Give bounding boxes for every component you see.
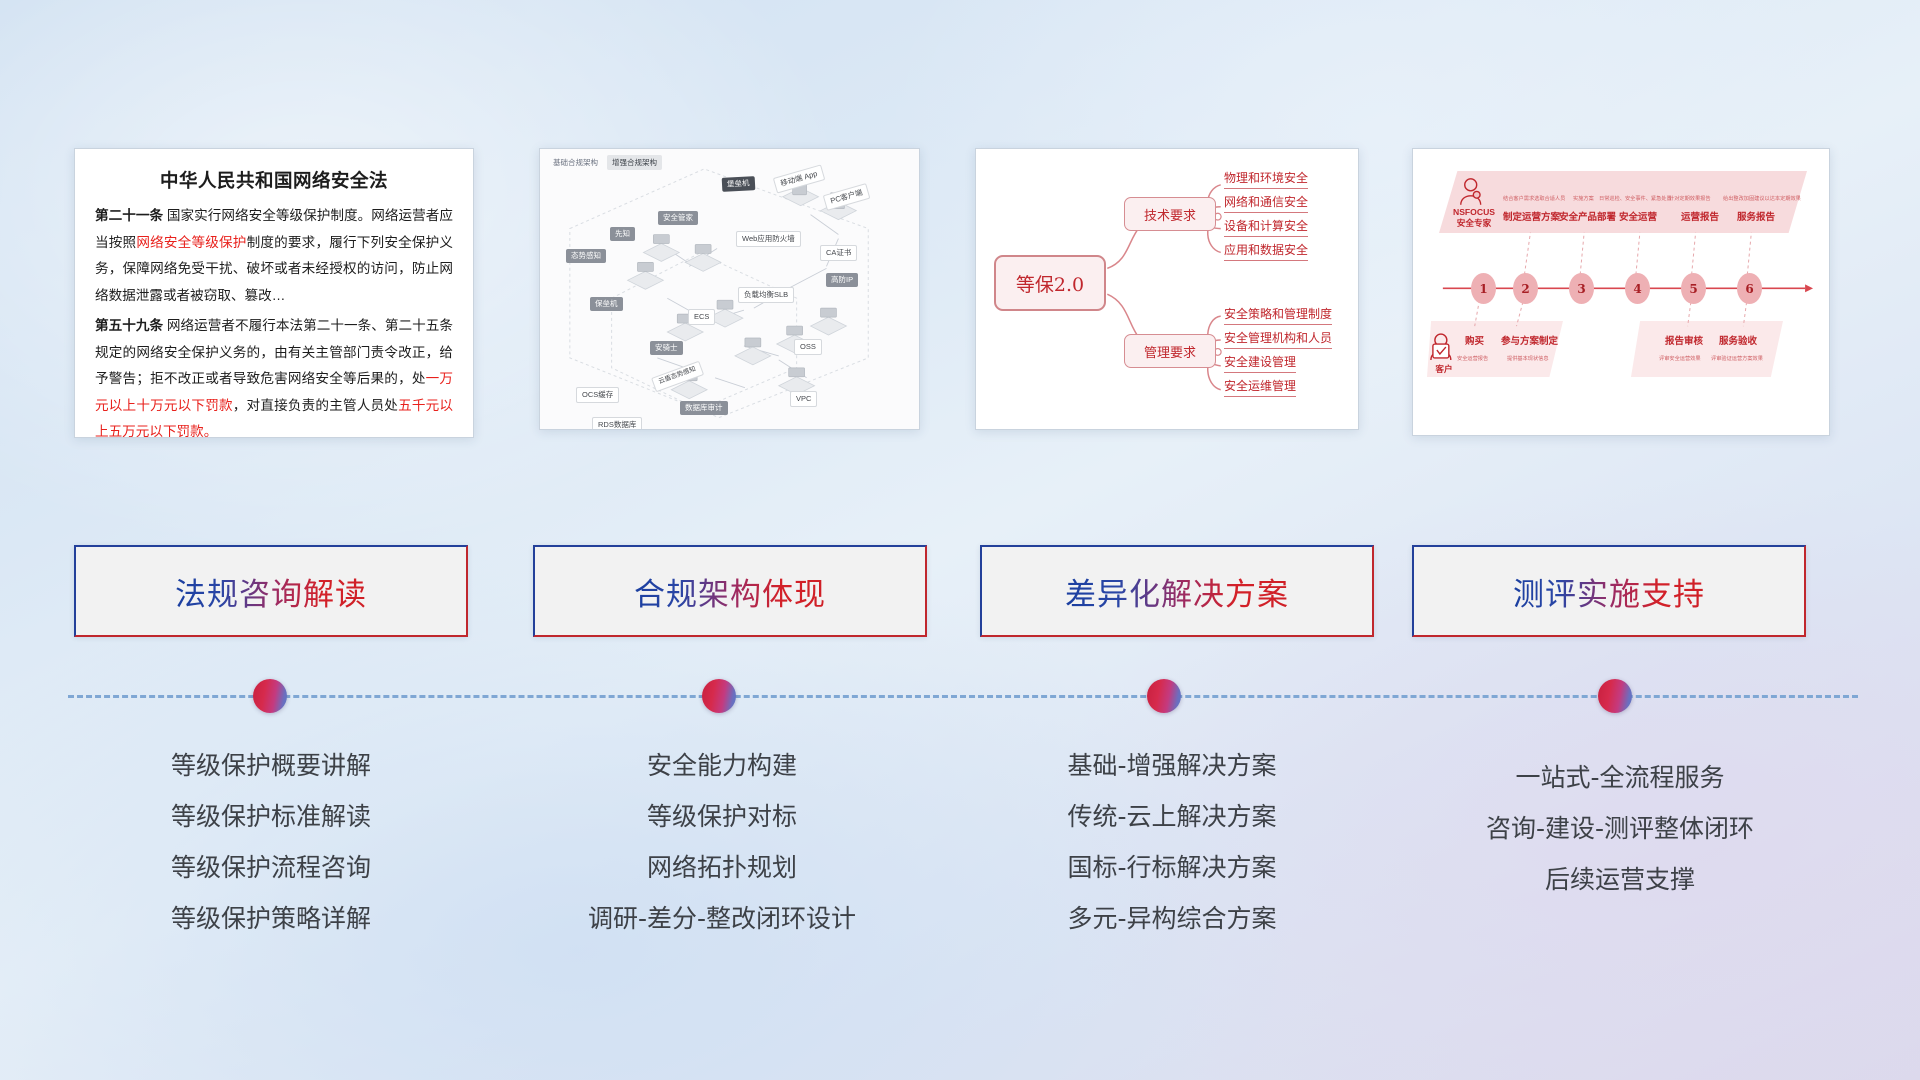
mindmap-root-node[interactable]: 等保2.0 xyxy=(994,255,1106,311)
section-title-box-1[interactable]: 法规咨询解读 xyxy=(74,545,468,637)
node-anti-ddos-ip[interactable]: 高防IP xyxy=(826,273,858,287)
list-item: 多元-异构综合方案 xyxy=(942,893,1402,944)
node-web-application-firewall[interactable]: Web应用防火墙 xyxy=(736,231,801,247)
top-step-1-sub: 结合客户需求选取合适人员 xyxy=(1503,195,1565,202)
list-item: 网络拓扑规划 xyxy=(492,842,952,893)
mindmap-leaf-security-construction-mgmt[interactable]: 安全建设管理 xyxy=(1224,353,1296,373)
list-item: 等级保护对标 xyxy=(492,791,952,842)
article-59-text-b: ，对直接负责的主管人员处 xyxy=(233,398,398,413)
law-card-title: 中华人民共和国网络安全法 xyxy=(95,167,453,193)
timeline-node-4[interactable] xyxy=(1598,679,1632,713)
bottom-step-4-sub: 评审验证运营方案效果 xyxy=(1711,355,1763,362)
architecture-diagram: 基础合规架构 增强合规架构 xyxy=(540,149,919,429)
top-step-3-title[interactable]: 安全运营 xyxy=(1619,209,1657,223)
timeline-marker-1[interactable]: 1 xyxy=(1471,273,1496,304)
node-vpc[interactable]: VPC xyxy=(790,391,817,407)
top-step-5-sub: 给出整改加固建议以达本定期效果 xyxy=(1723,195,1801,202)
node-ca-certificate[interactable]: CA证书 xyxy=(820,245,857,261)
list-item: 等级保护概要讲解 xyxy=(41,740,501,791)
law-article-59: 第五十九条 网络运营者不履行本法第二十一条、第二十五条规定的网络安全保护义务的，… xyxy=(95,313,453,438)
top-step-4-title[interactable]: 运营报告 xyxy=(1681,209,1719,223)
timeline-node-1[interactable] xyxy=(253,679,287,713)
list-item: 等级保护标准解读 xyxy=(41,791,501,842)
law-article-21: 第二十一条 国家实行网络安全等级保护制度。网络运营者应当按照网络安全等级保护制度… xyxy=(95,203,453,309)
article-59-label: 第五十九条 xyxy=(95,318,163,333)
bottom-step-1-title[interactable]: 购买 xyxy=(1465,333,1484,347)
mindmap-leaf-security-ops-mgmt[interactable]: 安全运维管理 xyxy=(1224,377,1296,397)
top-step-1-title[interactable]: 制定运营方案 xyxy=(1503,209,1560,223)
section-title-label-2: 合规架构体现 xyxy=(634,569,826,614)
timeline-marker-3[interactable]: 3 xyxy=(1569,273,1594,304)
list-item: 安全能力构建 xyxy=(492,740,952,791)
section-titles-row: 法规咨询解读 合规架构体现 差异化解决方案 测评实施支持 xyxy=(0,545,1920,637)
mindmap-branch-technical[interactable]: 技术要求 xyxy=(1124,197,1216,231)
law-card-body: 第二十一条 国家实行网络安全等级保护制度。网络运营者应当按照网络安全等级保护制度… xyxy=(95,203,453,438)
article-21-highlight: 网络安全等级保护 xyxy=(136,235,246,250)
node-rds-database[interactable]: RDS数据库 xyxy=(592,417,642,430)
timeline-marker-4[interactable]: 4 xyxy=(1625,273,1650,304)
preview-cards-row: 中华人民共和国网络安全法 第二十一条 国家实行网络安全等级保护制度。网络运营者应… xyxy=(0,148,1920,438)
section-title-box-3[interactable]: 差异化解决方案 xyxy=(980,545,1374,637)
node-ocs-cache[interactable]: OCS缓存 xyxy=(576,387,619,403)
mindmap-leaf-physical-env-security[interactable]: 物理和环境安全 xyxy=(1224,169,1308,189)
section-title-label-3: 差异化解决方案 xyxy=(1065,569,1289,614)
mindmap-branch-management[interactable]: 管理要求 xyxy=(1124,334,1216,368)
timeline-provider-label: NSFOCUS 安全专家 xyxy=(1447,207,1501,228)
node-situation-awareness[interactable]: 态势感知 xyxy=(566,249,606,263)
top-step-2-sub: 实施方案 xyxy=(1573,195,1594,202)
list-item: 基础-增强解决方案 xyxy=(942,740,1402,791)
list-item: 咨询-建设-测评整体闭环 xyxy=(1390,803,1850,854)
nsfocus-timeline-diagram: NSFOCUS 安全专家 客户 结合客户需求选取合适人员 制定运营方案 实施方案… xyxy=(1413,149,1829,435)
section-items-column-2: 安全能力构建 等级保护对标 网络拓扑规划 调研-差分-整改闭环设计 xyxy=(492,740,952,944)
timeline-node-2[interactable] xyxy=(702,679,736,713)
mindmap-diagram: 等保2.0 技术要求 管理要求 物理和环境安全 网络和通信安全 设备和计算安全 … xyxy=(976,149,1358,429)
mindmap-leaf-security-org-personnel[interactable]: 安全管理机构和人员 xyxy=(1224,329,1332,349)
node-xianzhi[interactable]: 先知 xyxy=(610,227,635,241)
bottom-step-1-sub: 安全运营报告 xyxy=(1457,355,1488,362)
section-title-label-4: 测评实施支持 xyxy=(1513,569,1705,614)
list-item: 后续运营支撑 xyxy=(1390,854,1850,905)
bottom-step-2-title[interactable]: 参与方案制定 xyxy=(1501,333,1558,347)
section-items-column-3: 基础-增强解决方案 传统-云上解决方案 国标-行标解决方案 多元-异构综合方案 xyxy=(942,740,1402,944)
node-anqishi[interactable]: 安骑士 xyxy=(650,341,683,355)
bottom-step-4-title[interactable]: 服务验收 xyxy=(1719,333,1757,347)
bottom-step-2-sub: 提供基本现状信息 xyxy=(1507,355,1549,362)
timeline-node-3[interactable] xyxy=(1147,679,1181,713)
node-ecs[interactable]: ECS xyxy=(688,309,715,325)
node-bastion-host[interactable]: 保垒机 xyxy=(590,297,623,311)
node-security-butler[interactable]: 安全管家 xyxy=(658,211,698,225)
card-mind-map[interactable]: 等保2.0 技术要求 管理要求 物理和环境安全 网络和通信安全 设备和计算安全 … xyxy=(975,148,1359,430)
section-title-label-1: 法规咨询解读 xyxy=(175,569,367,614)
section-title-box-2[interactable]: 合规架构体现 xyxy=(533,545,927,637)
top-step-2-title[interactable]: 安全产品部署 xyxy=(1559,209,1616,223)
card-service-timeline[interactable]: NSFOCUS 安全专家 客户 结合客户需求选取合适人员 制定运营方案 实施方案… xyxy=(1412,148,1830,436)
node-bastion-host-top[interactable]: 堡垒机 xyxy=(722,176,755,191)
provider-name-line1: NSFOCUS xyxy=(1453,207,1495,217)
mindmap-leaf-device-compute-security[interactable]: 设备和计算安全 xyxy=(1224,217,1308,237)
mindmap-leaf-app-data-security[interactable]: 应用和数据安全 xyxy=(1224,241,1308,261)
node-load-balancer-slb[interactable]: 负载均衡SLB xyxy=(738,287,794,303)
node-database-audit[interactable]: 数据库审计 xyxy=(680,401,728,415)
card-cybersecurity-law[interactable]: 中华人民共和国网络安全法 第二十一条 国家实行网络安全等级保护制度。网络运营者应… xyxy=(74,148,474,438)
list-item: 一站式-全流程服务 xyxy=(1390,752,1850,803)
section-title-box-4[interactable]: 测评实施支持 xyxy=(1412,545,1806,637)
timeline-dashed-line xyxy=(68,695,1858,698)
top-step-3-sub: 日常巡检、安全事件、紧急处置 xyxy=(1599,195,1672,202)
bottom-step-3-sub: 评审安全运营效果 xyxy=(1659,355,1701,362)
node-oss[interactable]: OSS xyxy=(794,339,822,355)
top-step-4-sub: 针对定期效果报告 xyxy=(1669,195,1711,202)
list-item: 调研-差分-整改闭环设计 xyxy=(492,893,952,944)
list-item: 等级保护流程咨询 xyxy=(41,842,501,893)
card-compliance-architecture[interactable]: 基础合规架构 增强合规架构 xyxy=(539,148,920,430)
bottom-step-3-title[interactable]: 报告审核 xyxy=(1665,333,1703,347)
timeline-marker-2[interactable]: 2 xyxy=(1513,273,1538,304)
section-items-column-1: 等级保护概要讲解 等级保护标准解读 等级保护流程咨询 等级保护策略详解 xyxy=(41,740,501,944)
timeline-customer-label: 客户 xyxy=(1429,363,1459,375)
provider-name-line2: 安全专家 xyxy=(1457,218,1491,228)
list-item: 传统-云上解决方案 xyxy=(942,791,1402,842)
list-item: 国标-行标解决方案 xyxy=(942,842,1402,893)
top-step-5-title[interactable]: 服务报告 xyxy=(1737,209,1775,223)
section-items-column-4: 一站式-全流程服务 咨询-建设-测评整体闭环 后续运营支撑 xyxy=(1390,752,1850,905)
list-item: 等级保护策略详解 xyxy=(41,893,501,944)
timeline-marker-5[interactable]: 5 xyxy=(1681,273,1706,304)
mindmap-leaf-security-policy-system[interactable]: 安全策略和管理制度 xyxy=(1224,305,1332,325)
mindmap-leaf-network-comm-security[interactable]: 网络和通信安全 xyxy=(1224,193,1308,213)
article-21-label: 第二十一条 xyxy=(95,208,163,223)
timeline-marker-6[interactable]: 6 xyxy=(1737,273,1762,304)
